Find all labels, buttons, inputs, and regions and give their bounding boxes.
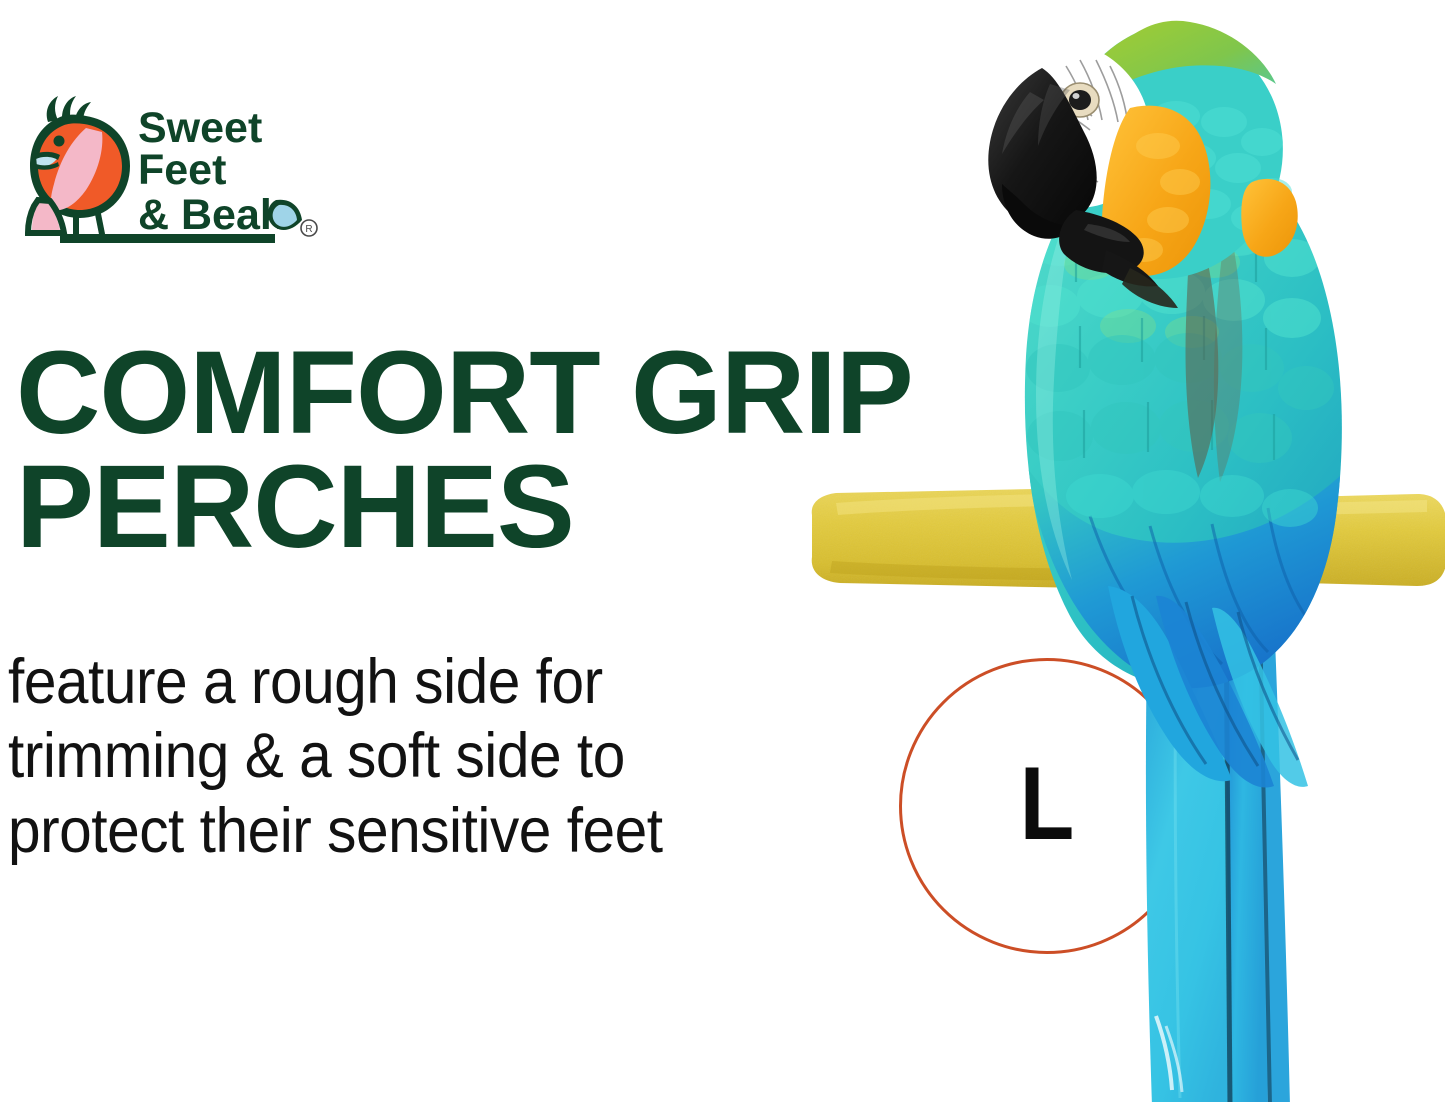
brand-logo: Sweet Feet & Beak R — [14, 84, 324, 264]
brand-wordmark: Sweet Feet & Beak — [138, 104, 284, 239]
headline-line-1: COMFORT GRIP — [16, 336, 1036, 450]
brand-name-line-1: Sweet — [138, 104, 262, 152]
description-text: feature a rough side for trimming & a so… — [8, 645, 743, 868]
macaw-photo — [980, 0, 1400, 1102]
description-line-3: protect their sensitive feet — [8, 794, 743, 868]
description-line-1: feature a rough side for — [8, 645, 743, 719]
leaf-icon — [268, 200, 302, 243]
product-marketing-banner: Sweet Feet & Beak R COMFORT GRIP PERCHES… — [0, 0, 1445, 1102]
svg-text:R: R — [305, 224, 312, 235]
brand-name-line-3: & Beak — [138, 191, 284, 239]
registered-trademark-symbol: R — [301, 220, 317, 236]
description-line-2: trimming & a soft side to — [8, 719, 743, 793]
brand-name-line-2: Feet — [138, 146, 226, 194]
